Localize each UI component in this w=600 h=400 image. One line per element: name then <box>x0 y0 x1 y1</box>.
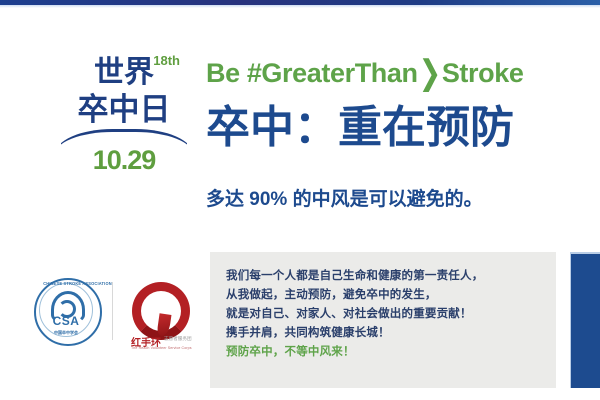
red-bracelet-subtitle-en: The Reach Volunteer Service Corps <box>131 346 192 350</box>
red-bracelet-logo: 红手环 志愿者服务团 The Reach Volunteer Service C… <box>120 276 190 356</box>
emblem-arc-decoration <box>61 127 187 149</box>
emblem-title-line1: 世界 <box>94 56 154 89</box>
emblem-date: 10.29 <box>58 147 190 174</box>
chinese-stroke-association-logo: CHINESE STROKE ASSOCIATION CSA 中国卒中学会 <box>34 278 102 346</box>
message-line: 我们每一个人都是自己生命和健康的第一责任人， <box>226 267 546 286</box>
headline-english-prefix: Be #GreaterThan <box>206 58 418 88</box>
headline-english-suffix: Stroke <box>442 58 524 88</box>
message-panel: 我们每一个人都是自己生命和健康的第一责任人，从我做起，主动预防，避免卒中的发生，… <box>210 252 556 388</box>
subheadline-chinese: 多达 90% 的中风是可以避免的。 <box>206 184 483 211</box>
emblem-edition-superscript: 18th <box>153 54 180 67</box>
headline-english: Be #GreaterThan❯Stroke <box>206 58 523 89</box>
top-accent-bar-glow <box>0 5 600 8</box>
poster-canvas: 世界 18th 卒中日 10.29 Be #GreaterThan❯Stroke… <box>0 0 600 400</box>
world-stroke-day-emblem: 世界 18th 卒中日 10.29 <box>58 52 190 200</box>
message-line: 就是对自己、对家人、对社会做出的重要贡献！ <box>226 305 546 324</box>
csa-arc-bottom-text: 中国卒中学会 <box>40 330 92 336</box>
emblem-title-line1-wrapper: 世界 18th <box>94 58 154 88</box>
emblem-title-line2: 卒中日 <box>58 94 190 125</box>
red-bracelet-subtitle-cn: 志愿者服务团 <box>164 336 192 342</box>
csa-arc-top-text: CHINESE STROKE ASSOCIATION <box>43 281 89 286</box>
organisation-logos: CHINESE STROKE ASSOCIATION CSA 中国卒中学会 红手… <box>30 276 190 358</box>
right-blue-block <box>570 252 600 388</box>
greater-than-icon: ❯ <box>418 54 442 93</box>
logo-divider <box>112 282 113 340</box>
message-line: 从我做起，主动预防，避免卒中的发生， <box>226 286 546 305</box>
message-line: 携手并肩，共同构筑健康长城！ <box>226 324 546 343</box>
csa-abbreviation: CSA <box>34 314 98 328</box>
headline-chinese: 卒中：重在预防 <box>206 104 514 152</box>
message-line: 预防卒中，不等中风来！ <box>226 343 546 362</box>
message-text: 我们每一个人都是自己生命和健康的第一责任人，从我做起，主动预防，避免卒中的发生，… <box>226 267 546 362</box>
